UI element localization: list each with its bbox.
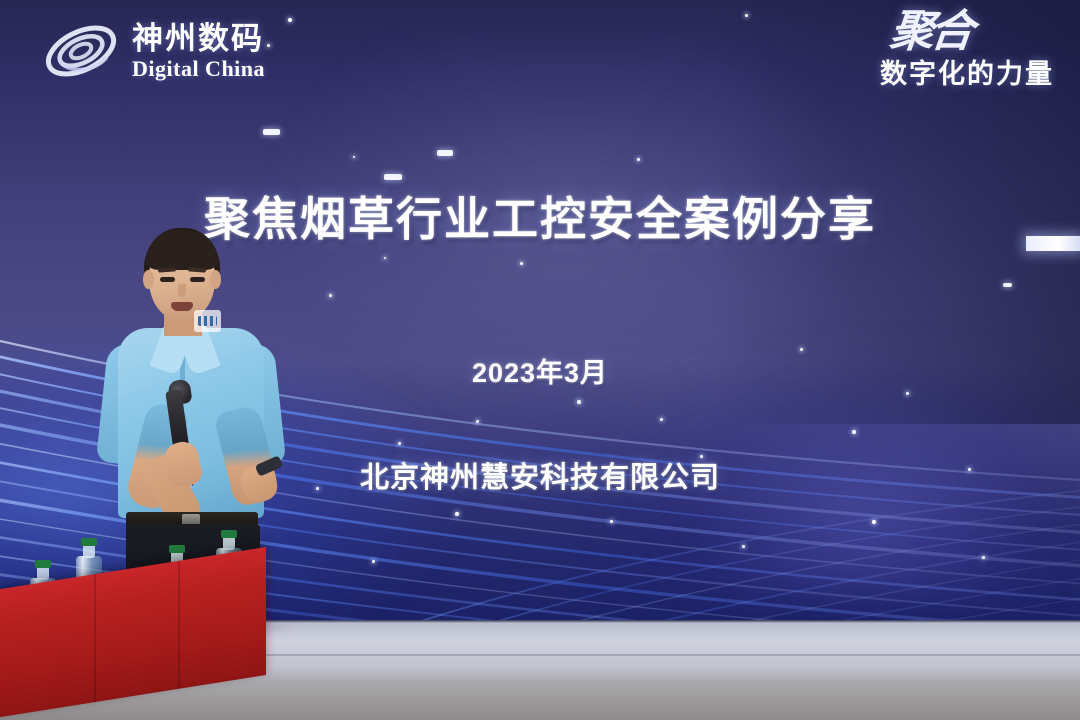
- brand-name-cn: 神州数码: [132, 21, 264, 56]
- event-logo: 聚合 数字化的力量: [880, 14, 1054, 91]
- table-cloth-fold: [94, 574, 96, 702]
- event-calligraphy: 聚合: [878, 14, 972, 50]
- wave-bloom-right: [605, 349, 1037, 599]
- brand-name-en: Digital China: [132, 58, 265, 80]
- event-subtitle: 数字化的力量: [880, 52, 1054, 91]
- presenter-ear-right: [210, 270, 221, 289]
- conference-stage-photo: 神州数码 Digital China 聚合 数字化的力量 聚焦烟草行业工控安全案…: [0, 0, 1080, 720]
- digital-china-swirl-icon: [40, 18, 122, 84]
- presenter-mouth: [171, 302, 193, 311]
- table-cloth-fold: [178, 561, 180, 689]
- presenter-eye-left: [160, 277, 175, 282]
- screen-center-glow: [270, 37, 864, 424]
- digital-china-logo: 神州数码 Digital China: [40, 18, 265, 84]
- presenter-eye-right: [190, 277, 205, 282]
- presenter-ear-left: [143, 270, 154, 289]
- presenter-nose: [178, 284, 186, 297]
- screen-edge-light-bar: [1026, 236, 1080, 251]
- presenter-chest-logo: [194, 310, 221, 332]
